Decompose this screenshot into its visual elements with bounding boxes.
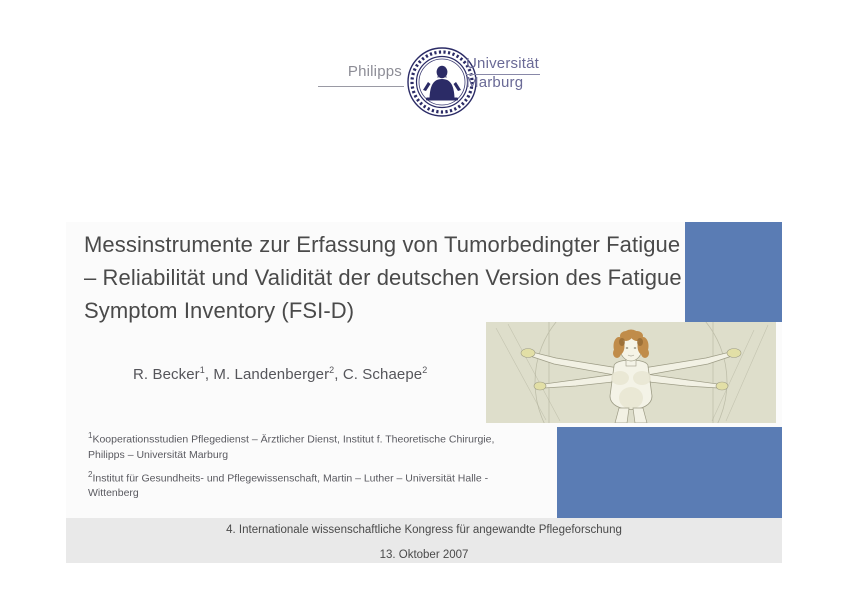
author-sep-2: , xyxy=(334,366,343,383)
affiliation-item: 2Institut für Gesundheits- und Pflegewis… xyxy=(88,467,528,502)
affiliation-item: 1Kooperationsstudien Pflegedienst – Ärzt… xyxy=(88,428,528,463)
affiliation-text-1: Kooperationsstudien Pflegedienst – Ärztl… xyxy=(88,434,494,461)
logo-rule-right xyxy=(466,74,540,75)
slide-affiliations: 1Kooperationsstudien Pflegedienst – Ärzt… xyxy=(88,428,528,505)
footer-date: 13. Oktober 2007 xyxy=(66,549,782,561)
slide-footer: 4. Internationale wissenschaftliche Kong… xyxy=(66,524,782,561)
logo-rule-left xyxy=(318,86,404,87)
accent-block-top-right xyxy=(685,222,782,322)
author-sup-3: 2 xyxy=(422,365,427,375)
author-name-2: M. Landenberger xyxy=(213,366,329,383)
author-name-3: C. Schaepe xyxy=(343,366,422,383)
logo-text-universitaet-marburg: Universität Marburg xyxy=(466,54,539,92)
vitruvian-man-image xyxy=(486,322,776,423)
logo-text-universitaet: Universität xyxy=(466,54,539,73)
accent-block-bottom-right xyxy=(557,427,782,518)
logo-text-philipps: Philipps xyxy=(318,63,402,80)
university-logo: Philipps Universität Marburg xyxy=(318,46,540,118)
logo-text-marburg: Marburg xyxy=(466,73,539,92)
author-name-1: R. Becker xyxy=(133,366,200,383)
affiliation-text-2: Institut für Gesundheits- und Pflegewiss… xyxy=(88,472,488,499)
footer-conference-name: 4. Internationale wissenschaftliche Kong… xyxy=(66,524,782,536)
slide-authors: R. Becker1, M. Landenberger2, C. Schaepe… xyxy=(133,365,427,383)
slide-title: Messinstrumente zur Erfassung von Tumorb… xyxy=(84,228,684,327)
